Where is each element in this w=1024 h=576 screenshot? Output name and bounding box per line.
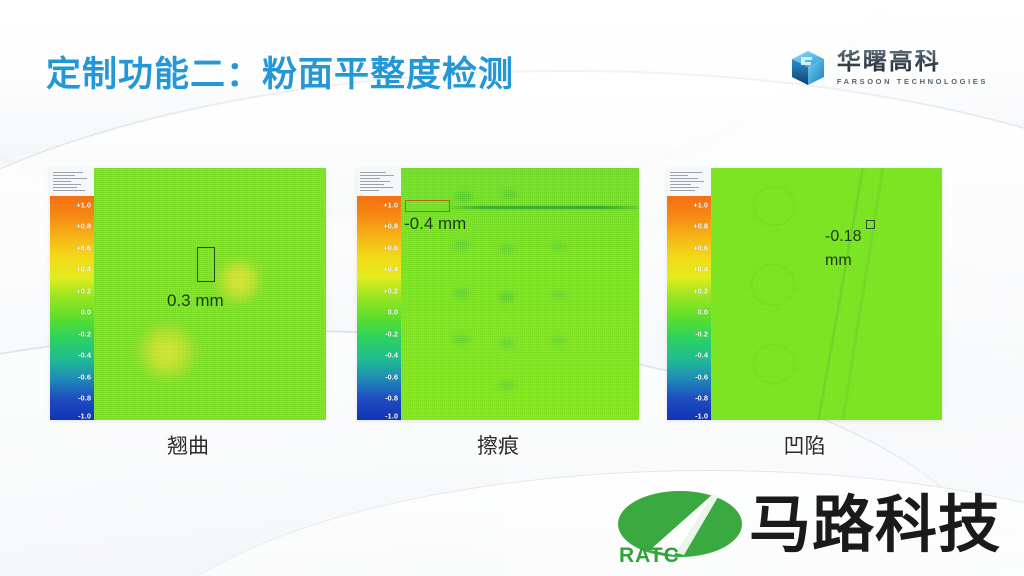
- measurement-panel-scratch[interactable]: +1.0 +0.8 +0.6 +0.4 +0.2 0.0 -0.2 -0.4 -…: [357, 168, 639, 420]
- brand-logo: 华曙高科 FARSOON TECHNOLOGIES: [788, 48, 988, 88]
- legend-tick: +0.8: [76, 222, 91, 231]
- legend-tick: +0.6: [693, 243, 708, 252]
- legend-tick: +0.8: [693, 222, 708, 231]
- measurement-marker-3[interactable]: [866, 220, 875, 229]
- heightmap-warpage[interactable]: 0.3 mm: [94, 168, 326, 420]
- legend-noise-header-1: [50, 168, 94, 196]
- caption-warpage: 翘曲: [50, 430, 326, 460]
- caption-scratch: 擦痕: [357, 430, 639, 460]
- brand-name-en: FARSOON TECHNOLOGIES: [837, 78, 988, 86]
- heightmap-scratch[interactable]: -0.4 mm: [401, 168, 639, 420]
- color-legend-3: +1.0 +0.8 +0.6 +0.4 +0.2 0.0 -0.2 -0.4 -…: [667, 168, 711, 420]
- measurement-panel-dent[interactable]: +1.0 +0.8 +0.6 +0.4 +0.2 0.0 -0.2 -0.4 -…: [667, 168, 942, 420]
- measurement-value-3-line1: -0.18: [825, 228, 861, 246]
- ratc-wordmark: RATC: [619, 544, 680, 568]
- legend-noise-header-3: [667, 168, 711, 196]
- measurement-panel-warpage[interactable]: +1.0 +0.8 +0.6 +0.4 +0.2 0.0 -0.2 -0.4 -…: [50, 168, 326, 420]
- legend-ticks-3: +1.0 +0.8 +0.6 +0.4 +0.2 0.0 -0.2 -0.4 -…: [667, 196, 711, 420]
- legend-tick: -0.2: [695, 329, 708, 338]
- legend-tick: -0.2: [385, 329, 398, 338]
- page-title: 定制功能二：粉面平整度检测: [46, 46, 514, 97]
- legend-tick: -0.6: [695, 372, 708, 381]
- panel-captions: 翘曲 擦痕 凹陷: [0, 430, 1024, 470]
- legend-tick: +1.0: [383, 200, 398, 209]
- legend-tick: +0.4: [693, 265, 708, 274]
- legend-tick: +1.0: [693, 200, 708, 209]
- footer-logo: RATC 马路科技: [614, 476, 1024, 576]
- legend-tick: -0.4: [385, 351, 398, 360]
- legend-tick: +0.4: [383, 265, 398, 274]
- legend-tick: -0.6: [385, 372, 398, 381]
- panel-row: +1.0 +0.8 +0.6 +0.4 +0.2 0.0 -0.2 -0.4 -…: [0, 168, 1024, 428]
- measurement-marker-2[interactable]: [405, 200, 450, 212]
- ratc-mark-icon: RATC: [614, 476, 749, 576]
- legend-tick: -0.6: [78, 372, 91, 381]
- measurement-value-1: 0.3 mm: [167, 291, 224, 311]
- legend-noise-header-2: [357, 168, 401, 196]
- slide-canvas: 定制功能二：粉面平整度检测 华曙高科 FARSOON TECHNOLOGI: [0, 0, 1024, 576]
- legend-tick: 0.0: [698, 308, 708, 317]
- color-legend-1: +1.0 +0.8 +0.6 +0.4 +0.2 0.0 -0.2 -0.4 -…: [50, 168, 94, 420]
- legend-tick: -1.0: [385, 411, 398, 420]
- legend-tick: -1.0: [78, 411, 91, 420]
- legend-tick: +0.2: [693, 286, 708, 295]
- legend-tick: -0.8: [695, 394, 708, 403]
- caption-dent: 凹陷: [667, 430, 942, 460]
- ratc-name-cn: 马路科技: [749, 495, 1001, 557]
- heightmap-grain-3: [711, 168, 942, 420]
- legend-tick: +0.4: [76, 265, 91, 274]
- legend-tick: +0.6: [76, 243, 91, 252]
- legend-tick: -0.8: [78, 394, 91, 403]
- legend-tick: 0.0: [81, 308, 91, 317]
- legend-tick: -0.2: [78, 329, 91, 338]
- legend-tick: +0.2: [76, 286, 91, 295]
- measurement-value-2: -0.4 mm: [404, 214, 466, 234]
- heightmap-dent[interactable]: -0.18 mm: [711, 168, 942, 420]
- legend-tick: +1.0: [76, 200, 91, 209]
- legend-tick: -0.8: [385, 394, 398, 403]
- measurement-marker-1[interactable]: [197, 247, 215, 282]
- legend-ticks-1: +1.0 +0.8 +0.6 +0.4 +0.2 0.0 -0.2 -0.4 -…: [50, 196, 94, 420]
- legend-tick: +0.6: [383, 243, 398, 252]
- legend-tick: -1.0: [695, 411, 708, 420]
- brand-name-cn: 华曙高科: [837, 50, 988, 74]
- legend-tick: +0.2: [383, 286, 398, 295]
- measurement-value-3-line2: mm: [825, 252, 852, 270]
- color-legend-2: +1.0 +0.8 +0.6 +0.4 +0.2 0.0 -0.2 -0.4 -…: [357, 168, 401, 420]
- legend-tick: -0.4: [78, 351, 91, 360]
- legend-tick: -0.4: [695, 351, 708, 360]
- legend-tick: +0.8: [383, 222, 398, 231]
- legend-ticks-2: +1.0 +0.8 +0.6 +0.4 +0.2 0.0 -0.2 -0.4 -…: [357, 196, 401, 420]
- cube-logo-icon: [788, 48, 828, 88]
- legend-tick: 0.0: [388, 308, 398, 317]
